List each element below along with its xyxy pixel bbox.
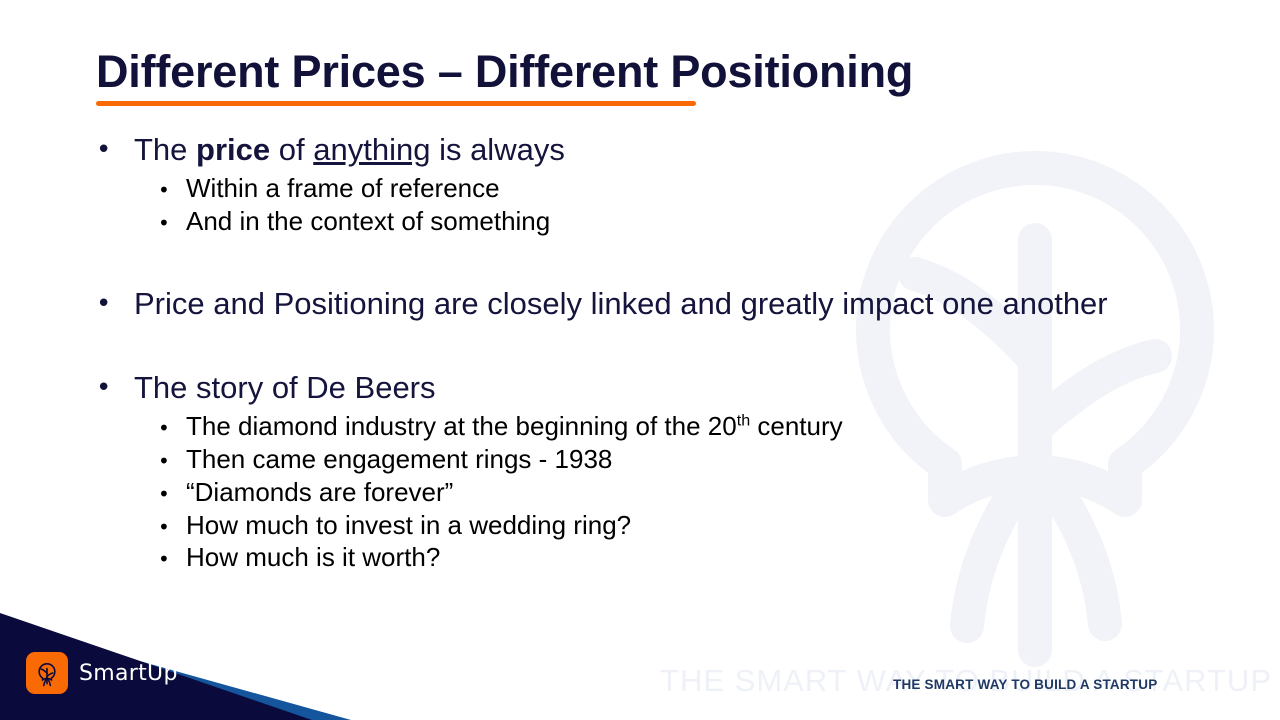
bullet-dot-icon: • [158, 476, 186, 504]
bullet-text: Then came engagement rings - 1938 [186, 443, 1186, 476]
bullet-dot-icon: • [158, 541, 186, 569]
list-item: • The story of De Beers [96, 368, 1186, 408]
list-item: • How much is it worth? [158, 541, 1186, 574]
bullet-text: The diamond industry at the beginning of… [186, 410, 1186, 443]
list-item: • Price and Positioning are closely link… [96, 284, 1186, 324]
bullet-text: Within a frame of reference [186, 172, 1186, 205]
bullet-dot-icon: • [96, 130, 134, 163]
title-block: Different Prices – Different Positioning [96, 48, 913, 106]
list-item: • Within a frame of reference [158, 172, 1186, 205]
spacer [96, 324, 1186, 368]
list-item: • Then came engagement rings - 1938 [158, 443, 1186, 476]
title-underline-accent [96, 101, 696, 106]
bullet-dot-icon: • [158, 443, 186, 471]
bullet-text: The price of anything is always [134, 130, 1186, 170]
bullet-dot-icon: • [96, 368, 134, 401]
list-item: • How much to invest in a wedding ring? [158, 509, 1186, 542]
brand-logo-lockup[interactable]: SmartUp [26, 652, 178, 694]
bullet-dot-icon: • [158, 410, 186, 438]
page-title: Different Prices – Different Positioning [96, 48, 913, 96]
bullet-text: How much is it worth? [186, 541, 1186, 574]
list-item: • The price of anything is always [96, 130, 1186, 170]
bullet-dot-icon: • [158, 172, 186, 200]
list-item: • The diamond industry at the beginning … [158, 410, 1186, 443]
smartup-wordmark: SmartUp [79, 661, 178, 686]
bullet-text: Price and Positioning are closely linked… [134, 284, 1186, 324]
smartup-tree-logo-icon [26, 652, 68, 694]
spacer [96, 238, 1186, 284]
list-item: • And in the context of something [158, 205, 1186, 238]
list-item: • “Diamonds are forever” [158, 476, 1186, 509]
bullet-text: “Diamonds are forever” [186, 476, 1186, 509]
bullet-dot-icon: • [96, 284, 134, 317]
bullet-dot-icon: • [158, 205, 186, 233]
bullet-text: And in the context of something [186, 205, 1186, 238]
bullet-text: The story of De Beers [134, 368, 1186, 408]
slide-canvas: Different Prices – Different Positioning… [0, 0, 1280, 720]
footer-tagline: THE SMART WAY TO BUILD A STARTUP [893, 677, 1157, 692]
bullet-dot-icon: • [158, 509, 186, 537]
body-content: • The price of anything is always • With… [96, 130, 1186, 574]
bullet-text: How much to invest in a wedding ring? [186, 509, 1186, 542]
